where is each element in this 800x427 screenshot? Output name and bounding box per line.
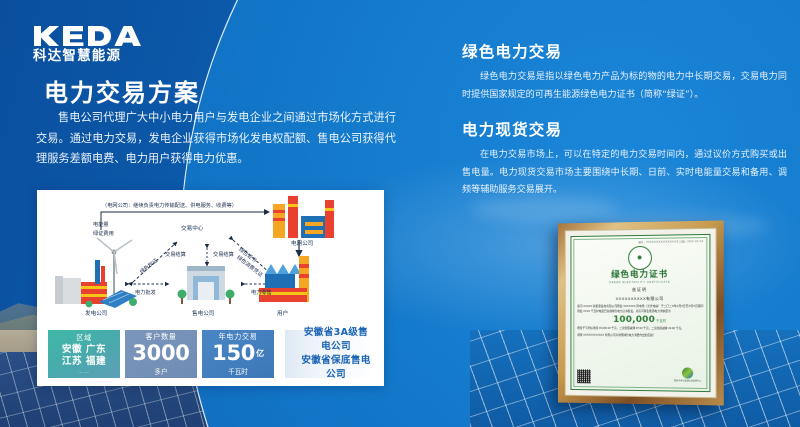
stats-strip: 区域 安徽 广东 江苏 福建 …… 客户数量 3000 多户 年电力交易 150… <box>48 330 274 378</box>
certificate-org: XXXXXXXXXX有限公司 <box>577 296 703 302</box>
certificate-seal-icon: ✹ <box>628 246 652 270</box>
certificate-body: 我司 XXXXX 新能源发电有限公司所属 XXXXXXX 风电场（光伏电站）于二… <box>577 305 703 314</box>
section-body: 绿色电力交易是指以绿色电力产品为标的物的电力中长期交易，交易电力同时提供国家规定… <box>462 69 787 104</box>
certificate-amount-unit: 千瓦时 <box>656 319 666 323</box>
certificate-amount-wrap: 100,000千瓦时 <box>577 315 703 325</box>
poster-canvas: 科达智慧能源 电力交易方案 售电公司代理广大中小电力用户与发电企业之间通过市场化… <box>0 0 800 427</box>
diagram-flow-settle-right: 交易结算 <box>213 252 234 259</box>
page-title: 电力交易方案 <box>44 73 200 108</box>
qualification-line-2: 安徽省保底售电公司 <box>299 354 373 382</box>
stat-value: 3000 <box>132 343 189 364</box>
certificate-title: 绿色电力证书 <box>577 270 703 280</box>
generator-illustration <box>55 238 137 308</box>
section-heading: 绿色电力交易 <box>462 40 787 62</box>
green-certificate-frame[interactable]: 编号：XXXXXXXXXXXXXXXXXX 日期：20XX-XX-XX ✹ 绿色… <box>558 220 724 405</box>
info-card: （电网公司：继续负责电力传输配送、供电服务、收费等） 电能量 绿证费用 交易中心… <box>37 190 384 386</box>
certificate-amount: 100,000 <box>613 315 655 325</box>
certificate-kind: 兹证明 <box>577 287 703 294</box>
section-body: 在电力交易市场上，可以在特定的电力交易时间内，通过议价方式购买或出售电量。电力现… <box>462 147 787 200</box>
keda-wordmark-icon <box>33 24 141 48</box>
diagram-flow-wholesale: 电力批发 <box>135 290 156 297</box>
stat-card-customers[interactable]: 客户数量 3000 多户 <box>125 330 197 378</box>
retailer-illustration <box>178 266 235 304</box>
certificate-qr-wrap <box>577 369 591 383</box>
diagram-center-label: 交易中心 <box>181 226 203 233</box>
qualification-text: 安徽省3A级售电公司 安徽省保底售电公司 <box>285 326 373 382</box>
diagram-left-note-1: 电能量 <box>93 222 109 229</box>
stat-caption: 年电力交易 <box>219 332 258 342</box>
section-green-power-trading: 绿色电力交易 绿色电力交易是指以绿色电力产品为标的物的电力中长期交易，交易电力同… <box>462 40 787 104</box>
diagram-graphics <box>37 190 384 330</box>
section-heading: 电力现货交易 <box>462 118 787 140</box>
diagram-node-retailer: 售电公司 <box>192 311 214 318</box>
certificate-body-2: 相当于节约标准煤 49,000.00 千克，二氧化碳减排 97.00 千克，二氧… <box>577 327 703 332</box>
qualification-line-1: 安徽省3A级售电公司 <box>299 326 373 354</box>
qualification-banner: KEDA 安徽省3A级售电公司 安徽省保底售电公司 <box>285 330 373 378</box>
diagram-flow-settle-left: 交易结算 <box>165 252 186 259</box>
seal-glyph: ✹ <box>637 254 643 262</box>
certificate-title-en: GREEN ELECTRICITY CERTIFICATE <box>577 281 703 285</box>
stat-value: 150 <box>212 341 255 365</box>
diagram-flow-retail: 电力零售 <box>251 290 272 297</box>
certificate-mat: 编号：XXXXXXXXXXXXXXXXXX 日期：20XX-XX-XX ✹ 绿色… <box>565 228 717 399</box>
brand-logo[interactable]: 科达智慧能源 <box>33 24 141 64</box>
certificate-issuer-wrap: 国家可再生能源信息管理中心 <box>674 367 701 382</box>
certificate-paper: 编号：XXXXXXXXXXXXXXXXXX 日期：20XX-XX-XX ✹ 绿色… <box>570 234 710 392</box>
page-description: 售电公司代理广大中小电力用户与发电企业之间通过市场化方式进行交易。通过电力交易，… <box>36 108 396 170</box>
stat-region-more: …… <box>78 369 90 375</box>
stat-value-unit: 亿 <box>256 349 264 358</box>
stat-card-annual-trading[interactable]: 年电力交易 150亿 千瓦时 <box>202 330 274 378</box>
grid-company-illustration <box>273 196 334 238</box>
power-trading-flow-diagram: （电网公司：继续负责电力传输配送、供电服务、收费等） 电能量 绿证费用 交易中心… <box>37 190 384 330</box>
certificate-body-3: 感谢 XXXXXXXXXXXX 有限公司对中国绿色电力消费作出的贡献！ <box>577 334 703 339</box>
diagram-top-note: （电网公司：继续负责电力传输配送、供电服务、收费等） <box>102 203 237 210</box>
diagram-node-generator: 发电公司 <box>85 311 107 318</box>
diagram-node-user: 用户 <box>277 311 288 318</box>
stat-value-wrap: 150亿 <box>212 343 264 364</box>
section-spot-power-trading: 电力现货交易 在电力交易市场上，可以在特定的电力交易时间内，通过议价方式购买或出… <box>462 118 787 200</box>
stat-unit: 多户 <box>154 366 167 376</box>
stat-unit: 千瓦时 <box>228 366 248 376</box>
issuer-badge-icon <box>682 367 693 378</box>
stat-card-region[interactable]: 区域 安徽 广东 江苏 福建 …… <box>48 330 120 378</box>
brand-name-cn: 科达智慧能源 <box>33 50 141 64</box>
certificate-header-note: 编号：XXXXXXXXXXXXXXXXXX 日期：20XX-XX-XX <box>577 239 703 245</box>
stat-region-line-2: 江苏 福建 <box>62 356 106 368</box>
stat-region-line-1: 安徽 广东 <box>62 344 106 356</box>
diagram-node-grid: 电网公司 <box>291 241 313 248</box>
stat-caption: 区域 <box>76 333 92 343</box>
stat-caption: 客户数量 <box>145 332 176 342</box>
diagram-left-note-2: 绿证费用 <box>93 231 114 238</box>
certificate-issuer: 国家可再生能源信息管理中心 <box>674 379 701 382</box>
qr-code-icon <box>577 369 591 383</box>
